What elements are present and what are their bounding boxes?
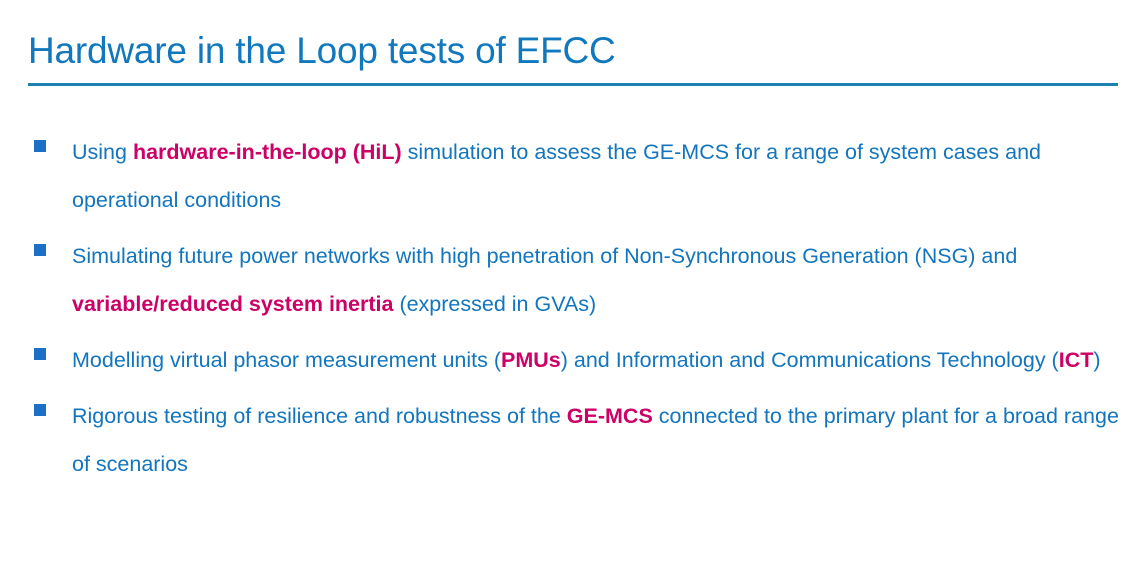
bullet-text: Modelling virtual phasor measurement uni… xyxy=(72,336,1130,384)
bullet-item: Modelling virtual phasor measurement uni… xyxy=(28,336,1130,384)
square-bullet-icon xyxy=(34,348,46,360)
body-text: Simulating future power networks with hi… xyxy=(72,244,1017,268)
bullet-text: Using hardware-in-the-loop (HiL) simulat… xyxy=(72,128,1130,224)
square-bullet-icon xyxy=(34,140,46,152)
bullet-item: Simulating future power networks with hi… xyxy=(28,232,1130,328)
bullet-text: Simulating future power networks with hi… xyxy=(72,232,1130,328)
emphasis-text: GE-MCS xyxy=(567,404,653,428)
body-text: Rigorous testing of resilience and robus… xyxy=(72,404,567,428)
title-block: Hardware in the Loop tests of EFCC xyxy=(28,28,1120,86)
emphasis-text: ICT xyxy=(1059,348,1094,372)
bullet-list: Using hardware-in-the-loop (HiL) simulat… xyxy=(28,128,1130,496)
page-title: Hardware in the Loop tests of EFCC xyxy=(28,28,1120,74)
slide-canvas: Hardware in the Loop tests of EFCC Using… xyxy=(0,0,1142,562)
bullet-item: Using hardware-in-the-loop (HiL) simulat… xyxy=(28,128,1130,224)
body-text: ) xyxy=(1093,348,1100,372)
title-underline-rule xyxy=(28,83,1118,86)
emphasis-text: PMUs xyxy=(501,348,561,372)
emphasis-text: variable/reduced system inertia xyxy=(72,292,393,316)
body-text: Using xyxy=(72,140,133,164)
square-bullet-icon xyxy=(34,404,46,416)
body-text: (expressed in GVAs) xyxy=(393,292,596,316)
emphasis-text: hardware-in-the-loop (HiL) xyxy=(133,140,402,164)
bullet-text: Rigorous testing of resilience and robus… xyxy=(72,392,1130,488)
body-text: Modelling virtual phasor measurement uni… xyxy=(72,348,501,372)
square-bullet-icon xyxy=(34,244,46,256)
body-text: ) and Information and Communications Tec… xyxy=(561,348,1059,372)
bullet-item: Rigorous testing of resilience and robus… xyxy=(28,392,1130,488)
